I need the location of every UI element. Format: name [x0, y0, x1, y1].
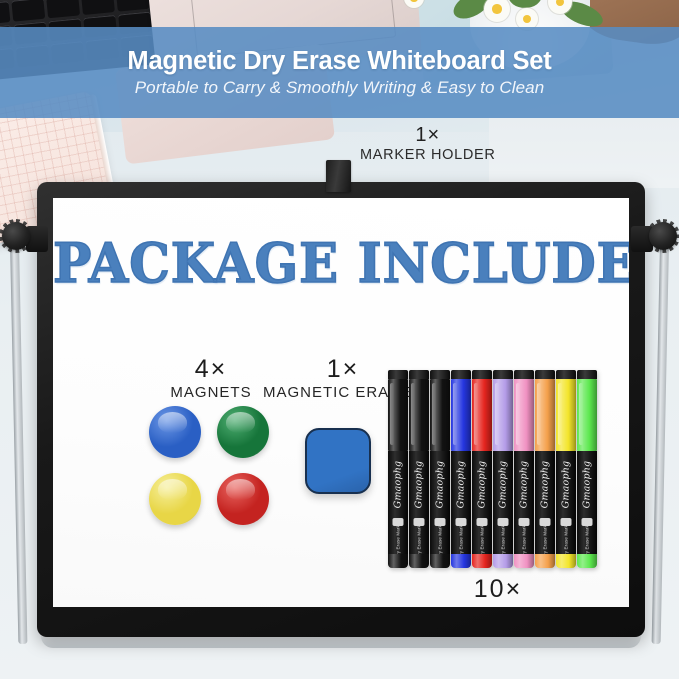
banner-title: Magnetic Dry Erase Whiteboard Set — [127, 47, 551, 76]
hinge-knob-right[interactable] — [631, 214, 677, 266]
marker-cap-top — [472, 370, 492, 379]
black-marker-2: GmaophgDry Erase Marker — [409, 370, 429, 568]
markers-callout: 10× DRY ERASE MARKERS — [383, 576, 613, 607]
marker-holder-clip — [326, 160, 351, 192]
marker-cap — [430, 379, 450, 451]
orange-marker: GmaophgDry Erase Marker — [535, 370, 555, 568]
marker-badge — [477, 518, 488, 526]
marker-brand-text: Gmaophg — [456, 461, 467, 509]
magnet-group — [149, 406, 277, 532]
marker-tip — [514, 554, 534, 568]
markers-qty: 10× — [383, 576, 613, 602]
marker-body: GmaophgDry Erase Marker — [409, 451, 429, 554]
marker-tip — [430, 554, 450, 568]
marker-badge — [414, 518, 425, 526]
marker-cap-top — [451, 370, 471, 379]
marker-tip — [556, 554, 576, 568]
marker-body: GmaophgDry Erase Marker — [451, 451, 471, 554]
marker-body: GmaophgDry Erase Marker — [556, 451, 576, 554]
yellow-marker: GmaophgDry Erase Marker — [556, 370, 576, 568]
green-marker: GmaophgDry Erase Marker — [577, 370, 597, 568]
black-marker-3: GmaophgDry Erase Marker — [430, 370, 450, 568]
marker-brand-text: Gmaophg — [582, 461, 593, 509]
marker-badge — [435, 518, 446, 526]
marker-holder-label: MARKER HOLDER — [360, 147, 496, 163]
marker-brand-text: Gmaophg — [477, 461, 488, 509]
marker-brand-text: Gmaophg — [561, 461, 572, 509]
marker-brand-text: Gmaophg — [435, 461, 446, 509]
marker-body: GmaophgDry Erase Marker — [514, 451, 534, 554]
pink-marker: GmaophgDry Erase Marker — [514, 370, 534, 568]
marker-cap — [493, 379, 513, 451]
whiteboard: PACKAGE INCLUDE 4× MAGNETS 1× MAGNETIC E… — [37, 182, 645, 637]
marker-tip — [493, 554, 513, 568]
black-marker-1: GmaophgDry Erase Marker — [388, 370, 408, 568]
marker-cap-top — [577, 370, 597, 379]
marker-cap-top — [388, 370, 408, 379]
marker-badge — [393, 518, 404, 526]
desk-panel-right — [489, 118, 679, 188]
board-frame: PACKAGE INCLUDE 4× MAGNETS 1× MAGNETIC E… — [37, 182, 645, 637]
marker-tip — [577, 554, 597, 568]
marker-brand-text: Gmaophg — [540, 461, 551, 509]
marker-cap-top — [430, 370, 450, 379]
magnetic-eraser — [305, 428, 371, 494]
marker-badge — [456, 518, 467, 526]
marker-cap-top — [514, 370, 534, 379]
blue-marker: GmaophgDry Erase Marker — [451, 370, 471, 568]
marker-tip — [388, 554, 408, 568]
markers-label: DRY ERASE MARKERS — [383, 604, 613, 607]
marker-brand-text: Gmaophg — [414, 461, 425, 509]
marker-holder-qty: 1× — [360, 124, 496, 147]
marker-body: GmaophgDry Erase Marker — [535, 451, 555, 554]
marker-brand-text: Gmaophg — [498, 461, 509, 509]
marker-cap — [556, 379, 576, 451]
blue-magnet — [149, 406, 201, 458]
marker-body: GmaophgDry Erase Marker — [472, 451, 492, 554]
product-infographic: Magnetic Dry Erase Whiteboard Set Portab… — [0, 0, 679, 679]
red-marker: GmaophgDry Erase Marker — [472, 370, 492, 568]
purple-marker: GmaophgDry Erase Marker — [493, 370, 513, 568]
marker-cap-top — [556, 370, 576, 379]
marker-badge — [498, 518, 509, 526]
marker-tip — [472, 554, 492, 568]
marker-brand-text: Gmaophg — [519, 461, 530, 509]
board-surface: PACKAGE INCLUDE 4× MAGNETS 1× MAGNETIC E… — [53, 198, 629, 607]
banner-subtitle: Portable to Carry & Smoothly Writing & E… — [135, 78, 545, 98]
marker-tip — [409, 554, 429, 568]
marker-cap-top — [409, 370, 429, 379]
marker-cap — [472, 379, 492, 451]
marker-cap — [577, 379, 597, 451]
marker-badge — [540, 518, 551, 526]
hinge-knob-left[interactable] — [2, 214, 48, 266]
marker-cap — [451, 379, 471, 451]
marker-cap — [409, 379, 429, 451]
red-magnet — [217, 473, 269, 525]
marker-badge — [519, 518, 530, 526]
marker-group: GmaophgDry Erase MarkerGmaophgDry Erase … — [388, 370, 608, 570]
marker-body: GmaophgDry Erase Marker — [430, 451, 450, 554]
green-magnet — [217, 406, 269, 458]
marker-badge — [561, 518, 572, 526]
marker-body: GmaophgDry Erase Marker — [388, 451, 408, 554]
marker-holder-callout: 1× MARKER HOLDER — [360, 124, 496, 163]
header-banner: Magnetic Dry Erase Whiteboard Set Portab… — [0, 27, 679, 118]
marker-body: GmaophgDry Erase Marker — [493, 451, 513, 554]
marker-cap-top — [493, 370, 513, 379]
marker-cap-top — [535, 370, 555, 379]
marker-badge — [582, 518, 593, 526]
marker-tip — [535, 554, 555, 568]
marker-brand-text: Gmaophg — [393, 461, 404, 509]
marker-tip — [451, 554, 471, 568]
package-include-headline: PACKAGE INCLUDE — [53, 232, 629, 296]
marker-cap — [388, 379, 408, 451]
marker-cap — [535, 379, 555, 451]
marker-cap — [514, 379, 534, 451]
marker-body: GmaophgDry Erase Marker — [577, 451, 597, 554]
yellow-magnet — [149, 473, 201, 525]
